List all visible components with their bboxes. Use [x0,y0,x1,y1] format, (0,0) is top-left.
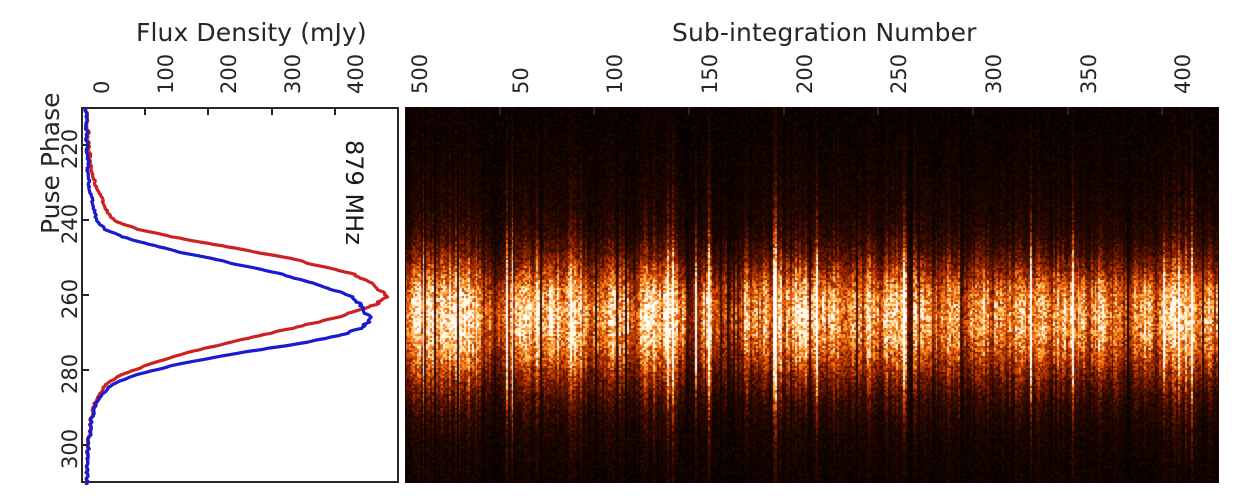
flux-tick-200: 200 [217,54,241,94]
phase-tick-220: 220 [58,129,82,169]
subint-tickmark-350 [1067,107,1069,115]
figure-root: Flux Density (mJy) Sub-integration Numbe… [0,0,1242,498]
subint-tickmark-150 [688,107,690,115]
flux-tickmark-200 [207,107,209,115]
subint-tick-50: 50 [509,67,533,94]
phase-tickmark-240 [81,219,89,221]
subint-tickmark-50 [499,107,501,115]
subint-tickmark-250 [877,107,879,115]
flux-tick-500: 500 [408,54,432,94]
phase-tickmark-300 [81,444,89,446]
subint-tick-200: 200 [793,54,817,94]
subint-tick-100: 100 [603,54,627,94]
phase-tickmark-260 [81,294,89,296]
flux-tickmark-300 [271,107,273,115]
subint-tick-300: 300 [982,54,1006,94]
dynamic-spectrum-image [406,108,1219,483]
phase-tick-260: 260 [58,279,82,319]
subint-tickmark-400 [1161,107,1163,115]
subint-tick-250: 250 [887,54,911,94]
frequency-annotation: 879 MHz [340,140,368,245]
frequency-annotation-wrap: 879 MHz [368,140,473,168]
blue-profile-curve [85,109,371,485]
phase-tickmark-280 [81,369,89,371]
phase-tick-300: 300 [58,429,82,469]
flux-tick-300: 300 [281,54,305,94]
subint-tickmark-100 [593,107,595,115]
phase-tick-240: 240 [58,204,82,244]
flux-tick-400: 400 [344,54,368,94]
subint-tickmark-300 [972,107,974,115]
subint-tick-150: 150 [698,54,722,94]
phase-tick-280: 280 [58,354,82,394]
subint-tick-400: 400 [1171,54,1195,94]
subint-tick-350: 350 [1077,54,1101,94]
flux-tickmark-400 [334,107,336,115]
flux-tickmark-100 [144,107,146,115]
flux-density-axis-title: Flux Density (mJy) [136,18,367,47]
flux-tick-100: 100 [154,54,178,94]
subint-tickmark-200 [783,107,785,115]
phase-tickmark-220 [81,144,89,146]
flux-tick-0: 0 [90,81,114,94]
sub-integration-axis-title: Sub-integration Number [672,18,977,47]
dynamic-spectrum-panel [405,107,1219,483]
